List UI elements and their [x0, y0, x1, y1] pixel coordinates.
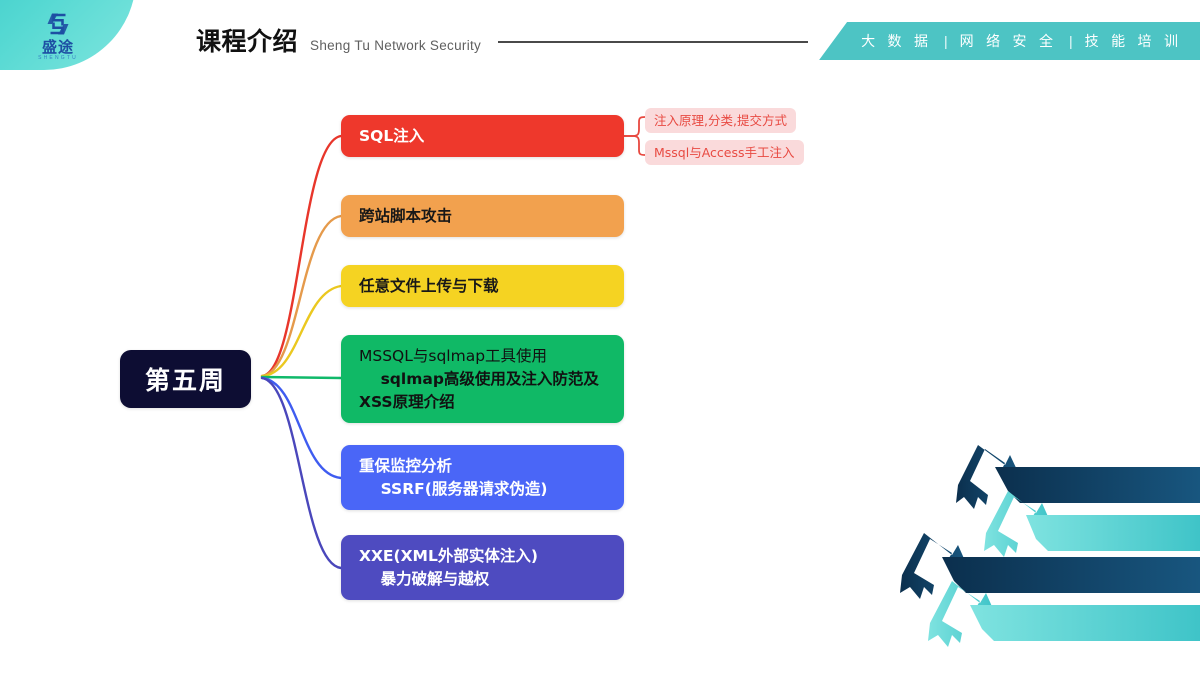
subnode-sql-2-label: Mssql与Access手工注入: [654, 144, 795, 161]
node-upload-line-1: 任意文件上传与下载: [359, 275, 624, 298]
connector-sql: [262, 136, 341, 376]
mindmap-node-ssrf[interactable]: 重保监控分析 SSRF(服务器请求伪造): [341, 445, 624, 510]
nav-banner: 大 数 据 | 网 络 安 全 | 技 能 培 训: [819, 22, 1200, 60]
connector-sub-2: [624, 136, 645, 155]
mindmap-node-sql[interactable]: SQL注入: [341, 115, 624, 157]
logo-content: 盛途 SHENGTU: [14, 4, 102, 66]
node-ssrf-line-2: SSRF(服务器请求伪造): [359, 478, 624, 501]
connector-xss: [262, 216, 341, 376]
subnode-sql-1-label: 注入原理,分类,提交方式: [654, 112, 787, 129]
node-xss-line-1: 跨站脚本攻击: [359, 205, 624, 228]
logo-chinese-name: 盛途: [42, 40, 74, 55]
mindmap-node-mssql[interactable]: MSSQL与sqlmap工具使用 sqlmap高级使用及注入防范及 XSS原理介…: [341, 335, 624, 423]
logo-english-name: SHENGTU: [38, 55, 78, 62]
connector-sub-1: [624, 117, 645, 136]
mindmap-canvas: 第五周 SQL注入 注入原理,分类,提交方式 Mssql与Access手工注入 …: [0, 82, 1200, 675]
node-mssql-line-2: sqlmap高级使用及注入防范及: [359, 368, 624, 391]
page-title-cn: 课程介绍: [196, 22, 298, 58]
page-title-en: Sheng Tu Network Security: [310, 38, 481, 53]
nav-item-bigdata[interactable]: 大 数 据: [861, 31, 932, 51]
node-mssql-line-1: MSSQL与sqlmap工具使用: [359, 345, 624, 368]
connector-mssql: [262, 377, 341, 378]
nav-separator: |: [944, 33, 948, 49]
page-title: 课程介绍 Sheng Tu Network Security: [196, 22, 481, 58]
mindmap-node-upload[interactable]: 任意文件上传与下载: [341, 265, 624, 307]
mindmap-root-node[interactable]: 第五周: [120, 350, 251, 408]
page-header: 盛途 SHENGTU 课程介绍 Sheng Tu Network Securit…: [0, 0, 1200, 82]
brand-logo[interactable]: 盛途 SHENGTU: [0, 0, 134, 70]
mindmap-node-xss[interactable]: 跨站脚本攻击: [341, 195, 624, 237]
nav-item-network-security[interactable]: 网 络 安 全: [960, 31, 1057, 51]
mindmap-subnode-sql-2[interactable]: Mssql与Access手工注入: [645, 140, 804, 165]
node-ssrf-line-1: 重保监控分析: [359, 455, 624, 478]
mindmap-node-xxe[interactable]: XXE(XML外部实体注入) 暴力破解与越权: [341, 535, 624, 600]
title-divider-line: [498, 41, 808, 43]
nav-separator: |: [1069, 33, 1073, 49]
node-xxe-line-2: 暴力破解与越权: [359, 568, 624, 591]
root-node-label: 第五周: [145, 361, 226, 397]
node-xxe-line-1: XXE(XML外部实体注入): [359, 545, 624, 568]
shengtu-monogram-icon: [43, 9, 73, 39]
node-sql-line-1: SQL注入: [359, 125, 624, 148]
connector-upload: [262, 286, 341, 376]
node-mssql-line-3: XSS原理介绍: [359, 391, 624, 414]
mindmap-subnode-sql-1[interactable]: 注入原理,分类,提交方式: [645, 108, 796, 133]
nav-item-skills-training[interactable]: 技 能 培 训: [1085, 31, 1182, 51]
connector-ssrf: [262, 378, 341, 478]
